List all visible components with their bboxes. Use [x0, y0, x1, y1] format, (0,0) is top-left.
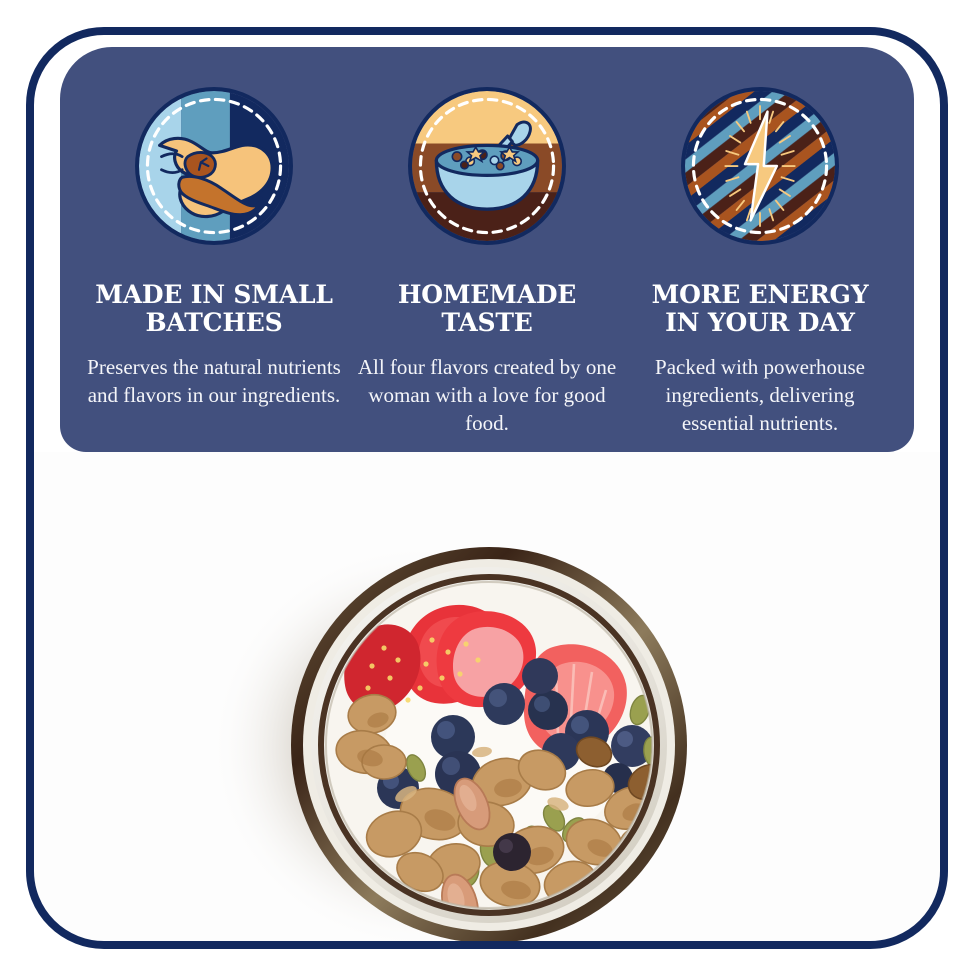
- pinching-hand-icon: [135, 87, 293, 245]
- granola-bowl-illustration: [34, 452, 940, 941]
- feature-column-homemade-taste: HOMEMADE TASTE All four flavors created …: [351, 87, 623, 438]
- feature-heading: HOMEMADE TASTE: [362, 281, 612, 337]
- product-photo: Overhead photo of a ceramic bowl of yogu…: [34, 452, 940, 941]
- feature-body: All four flavors created by one woman wi…: [356, 354, 618, 438]
- cereal-bowl-icon: [408, 87, 566, 245]
- feature-panel: MADE IN SMALL BATCHES Preserves the natu…: [60, 47, 914, 452]
- feature-body: Preserves the natural nutrients and flav…: [83, 354, 345, 410]
- feature-column-more-energy: MORE ENERGY IN YOUR DAY Packed with powe…: [624, 87, 896, 438]
- feature-heading: MORE ENERGY IN YOUR DAY: [635, 281, 885, 337]
- feature-column-made-in-small-batches: MADE IN SMALL BATCHES Preserves the natu…: [78, 87, 350, 410]
- feature-body: Packed with powerhouse ingredients, deli…: [629, 354, 891, 438]
- infographic-card: MADE IN SMALL BATCHES Preserves the natu…: [0, 0, 975, 976]
- feature-heading: MADE IN SMALL BATCHES: [89, 281, 339, 337]
- lightning-bolt-icon: [681, 87, 839, 245]
- card-inner: MADE IN SMALL BATCHES Preserves the natu…: [34, 35, 940, 941]
